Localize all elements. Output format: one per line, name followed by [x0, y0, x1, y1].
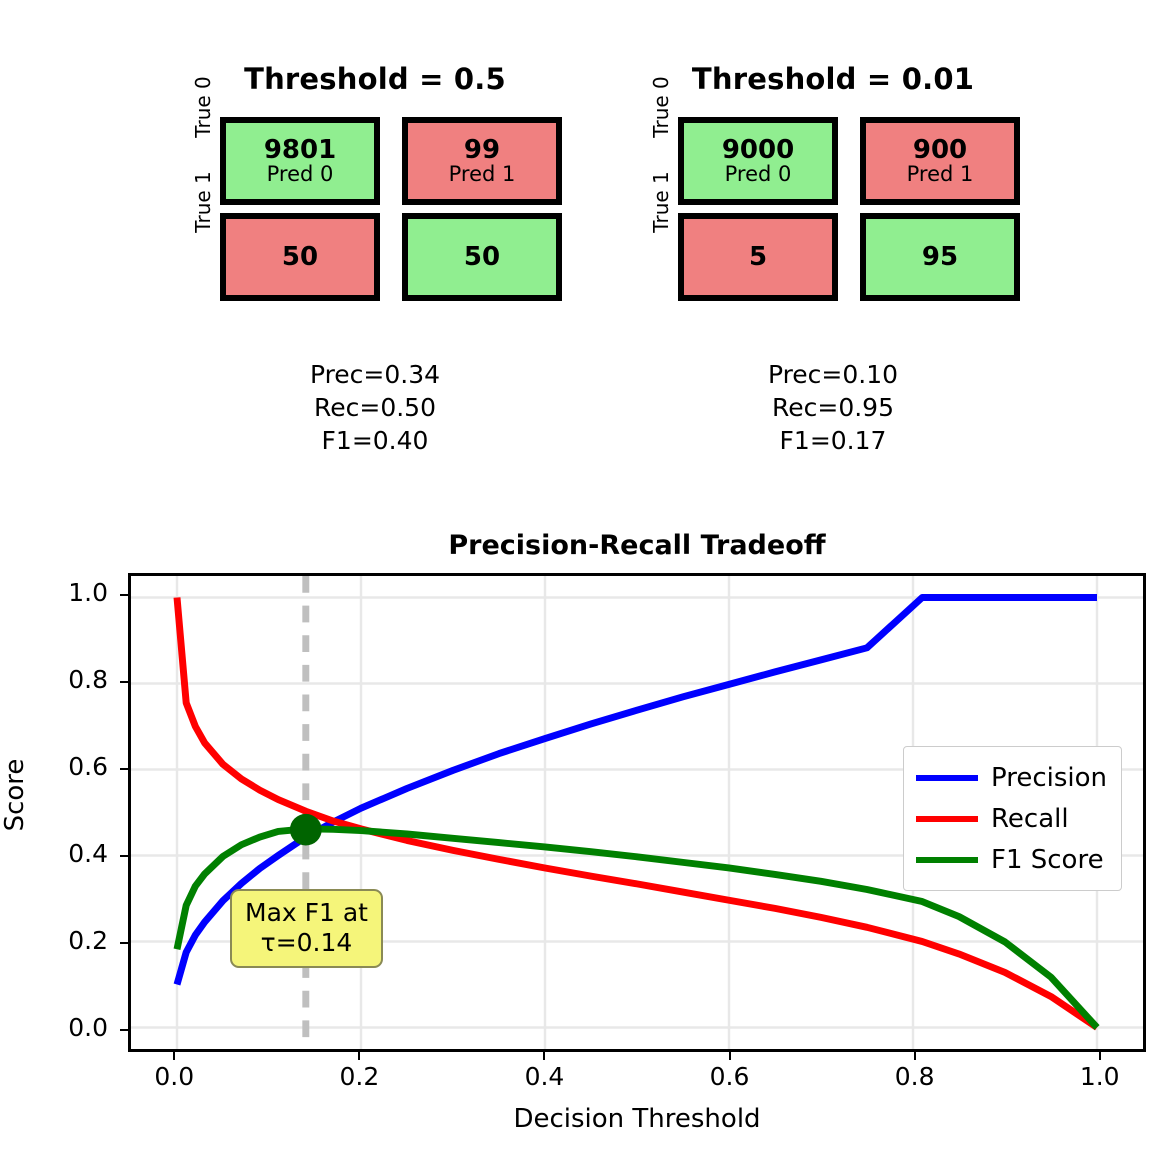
- legend-swatch-f1: [916, 857, 978, 863]
- y-axis-label: Score: [0, 675, 30, 915]
- cell-true0-pred0: 9000 Pred 0: [678, 117, 838, 205]
- cell-pred-label: Pred 0: [267, 164, 334, 185]
- cell-pred-label: Pred 1: [907, 164, 974, 185]
- annotation-line-1: Max F1 at: [245, 898, 368, 928]
- x-tick-label: 0.2: [319, 1062, 399, 1091]
- y-tick-label: 0.4: [18, 839, 108, 868]
- confusion-matrix-panel: Threshold = 0.01 True 0 True 1 9000 Pred…: [618, 0, 1048, 470]
- cell-count: 9000: [722, 137, 794, 164]
- confusion-matrix-panel: Threshold = 0.5 True 0 True 1 9801 Pred …: [160, 0, 590, 470]
- y-tick-mark: [120, 855, 128, 857]
- x-tick-mark: [729, 1052, 731, 1060]
- cell-true0-pred1: 900 Pred 1: [860, 117, 1020, 205]
- y-tick-label: 0.6: [18, 752, 108, 781]
- cell-count: 99: [464, 137, 500, 164]
- row-label-true1: True 1: [649, 137, 673, 267]
- x-tick-label: 0.6: [690, 1062, 770, 1091]
- y-tick-mark: [120, 681, 128, 683]
- panel-metrics: Prec=0.10 Rec=0.95 F1=0.17: [618, 358, 1048, 457]
- y-tick-label: 0.0: [18, 1013, 108, 1042]
- x-tick-mark: [173, 1052, 175, 1060]
- annotation-line-2: τ=0.14: [245, 928, 368, 958]
- x-tick-mark: [1099, 1052, 1101, 1060]
- x-tick-label: 0.0: [134, 1062, 214, 1091]
- cell-count: 95: [922, 244, 958, 271]
- row-label-true1: True 1: [191, 137, 215, 267]
- x-tick-mark: [543, 1052, 545, 1060]
- legend-item-recall: Recall: [916, 798, 1107, 839]
- max-f1-annotation: Max F1 at τ=0.14: [230, 889, 383, 968]
- legend-label: F1 Score: [991, 845, 1104, 875]
- y-tick-mark: [120, 1029, 128, 1031]
- x-tick-label: 0.4: [504, 1062, 584, 1091]
- metric-f1: F1=0.40: [160, 424, 590, 457]
- chart-legend: Precision Recall F1 Score: [903, 746, 1122, 891]
- legend-swatch-precision: [916, 775, 978, 781]
- cell-pred-label: Pred 0: [725, 164, 792, 185]
- cell-pred-label: Pred 1: [449, 164, 516, 185]
- metric-recall: Rec=0.50: [160, 391, 590, 424]
- cell-true0-pred0: 9801 Pred 0: [220, 117, 380, 205]
- cell-true1-pred0: 50: [220, 213, 380, 301]
- y-tick-mark: [120, 942, 128, 944]
- metric-recall: Rec=0.95: [618, 391, 1048, 424]
- precision-recall-chart: Precision-Recall Tradeoff Score Decision…: [0, 500, 1166, 1165]
- legend-label: Precision: [991, 763, 1107, 793]
- confusion-grid: 9801 Pred 0 99 Pred 1 50 50: [220, 117, 572, 307]
- legend-label: Recall: [991, 804, 1069, 834]
- cell-true1-pred0: 5: [678, 213, 838, 301]
- y-tick-label: 0.8: [18, 665, 108, 694]
- cell-count: 5: [749, 244, 767, 271]
- y-tick-mark: [120, 594, 128, 596]
- cell-true1-pred1: 50: [402, 213, 562, 301]
- panel-title: Threshold = 0.5: [160, 62, 590, 96]
- x-tick-label: 1.0: [1060, 1062, 1140, 1091]
- cell-count: 50: [464, 244, 500, 271]
- chart-title: Precision-Recall Tradeoff: [128, 530, 1146, 561]
- y-tick-label: 0.2: [18, 926, 108, 955]
- cell-true1-pred1: 95: [860, 213, 1020, 301]
- legend-item-precision: Precision: [916, 757, 1107, 798]
- panel-title: Threshold = 0.01: [618, 62, 1048, 96]
- cell-count: 9801: [264, 137, 336, 164]
- metric-precision: Prec=0.10: [618, 358, 1048, 391]
- y-tick-mark: [120, 768, 128, 770]
- cell-true0-pred1: 99 Pred 1: [402, 117, 562, 205]
- metric-precision: Prec=0.34: [160, 358, 590, 391]
- legend-item-f1: F1 Score: [916, 839, 1107, 880]
- metric-f1: F1=0.17: [618, 424, 1048, 457]
- cell-count: 50: [282, 244, 318, 271]
- x-tick-mark: [358, 1052, 360, 1060]
- x-tick-mark: [914, 1052, 916, 1060]
- cell-count: 900: [913, 137, 967, 164]
- confusion-grid: 9000 Pred 0 900 Pred 1 5 95: [678, 117, 1030, 307]
- panel-metrics: Prec=0.34 Rec=0.50 F1=0.40: [160, 358, 590, 457]
- legend-swatch-recall: [916, 816, 978, 822]
- x-tick-label: 0.8: [875, 1062, 955, 1091]
- y-tick-label: 1.0: [18, 578, 108, 607]
- x-axis-label: Decision Threshold: [128, 1104, 1146, 1134]
